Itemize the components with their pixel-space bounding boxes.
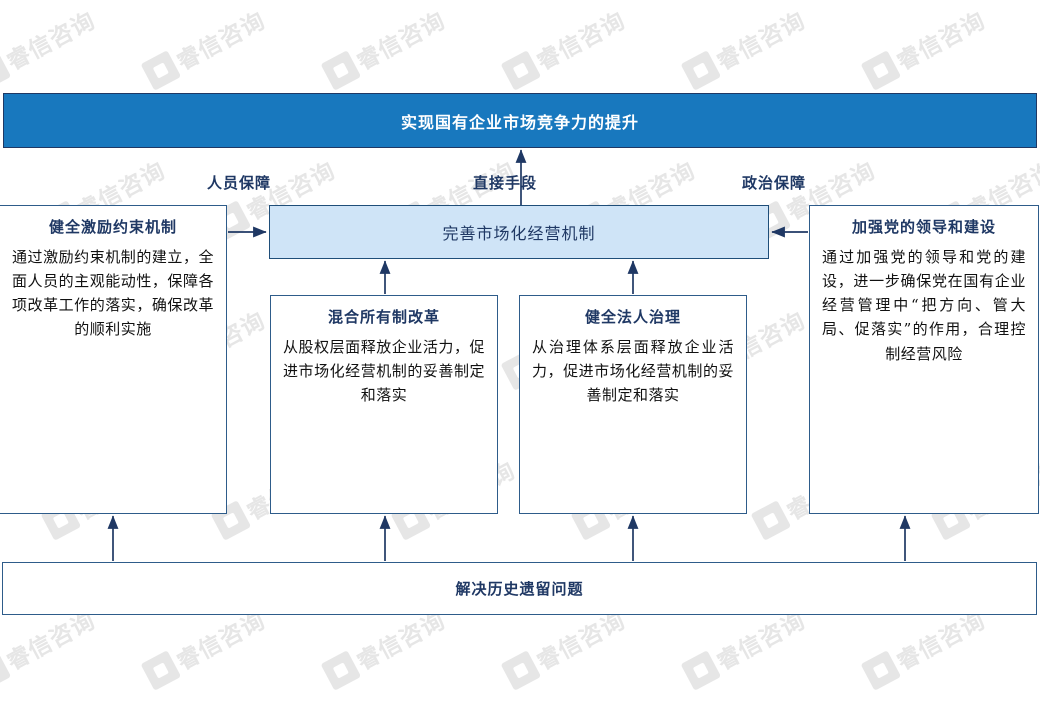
card-party-leadership: 加强党的领导和建设 通过加强党的领导和党的建设，进一步确保党在国有企业经营管理中… — [809, 205, 1039, 514]
hub-box-market-mechanism: 完善市场化经营机制 — [269, 205, 769, 259]
edge-label-personnel-guarantee: 人员保障 — [207, 172, 271, 193]
foundation-footer-title: 解决历史遗留问题 — [455, 578, 583, 599]
card-body: 从股权层面释放企业活力，促进市场化经营机制的妥善制定和落实 — [283, 335, 485, 408]
edge-label-political-guarantee: 政治保障 — [742, 172, 806, 193]
card-incentive-constraint: 健全激励约束机制 通过激励约束机制的建立，全面人员的主观能动性，保障各项改革工作… — [0, 205, 227, 514]
card-heading: 加强党的领导和建设 — [822, 216, 1026, 239]
foundation-footer-box: 解决历史遗留问题 — [2, 562, 1037, 615]
card-heading: 健全法人治理 — [532, 306, 734, 329]
card-body: 从治理体系层面释放企业活力，促进市场化经营机制的妥善制定和落实 — [532, 335, 734, 408]
hub-box-title: 完善市场化经营机制 — [442, 220, 595, 244]
card-body: 通过加强党的领导和党的建设，进一步确保党在国有企业经营管理中“把方向、管大局、促… — [822, 245, 1026, 366]
goal-banner: 实现国有企业市场竞争力的提升 — [3, 93, 1037, 148]
card-mixed-ownership-reform: 混合所有制改革 从股权层面释放企业活力，促进市场化经营机制的妥善制定和落实 — [270, 295, 498, 514]
edge-label-direct-means: 直接手段 — [473, 172, 537, 193]
goal-banner-title: 实现国有企业市场竞争力的提升 — [401, 109, 639, 133]
diagram-canvas: 睿信咨询睿信咨询睿信咨询睿信咨询睿信咨询睿信咨询睿信咨询睿信咨询睿信咨询睿信咨询… — [0, 0, 1040, 720]
card-heading: 健全激励约束机制 — [12, 216, 214, 239]
card-body: 通过激励约束机制的建立，全面人员的主观能动性，保障各项改革工作的落实，确保改革的… — [12, 245, 214, 342]
card-heading: 混合所有制改革 — [283, 306, 485, 329]
card-corporate-governance: 健全法人治理 从治理体系层面释放企业活力，促进市场化经营机制的妥善制定和落实 — [519, 295, 747, 514]
